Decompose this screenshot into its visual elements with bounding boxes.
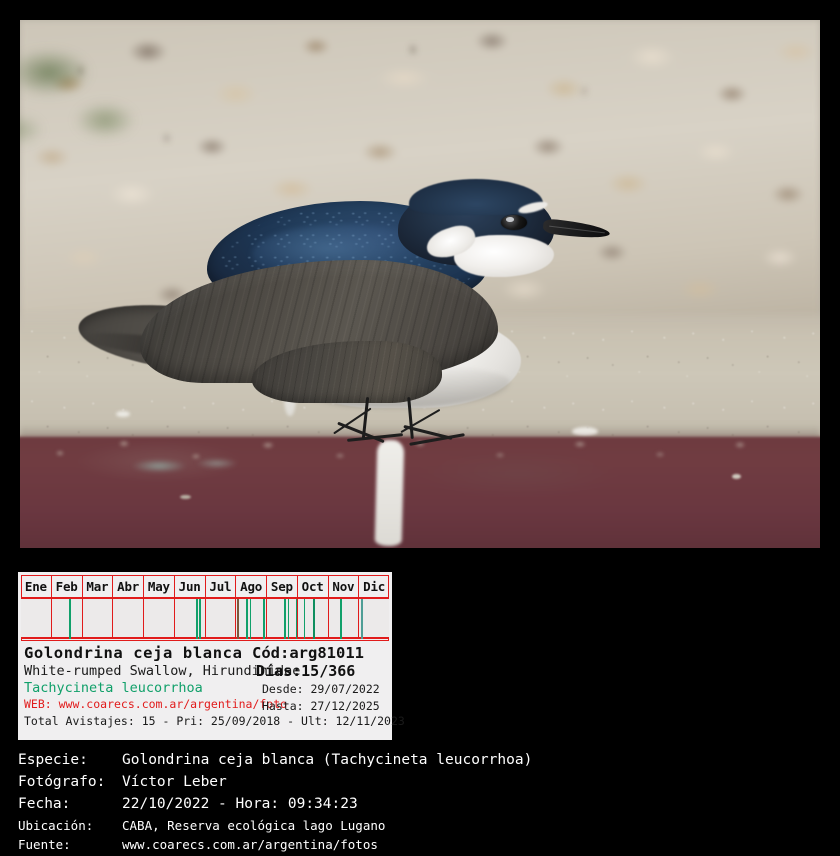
month-header-row: EneFebMarAbrMayJunJulAgoSepOctNovDic — [21, 575, 389, 597]
scientific-name-label: Tachycineta leucorrhoa — [24, 680, 203, 696]
plot-column-sep — [267, 599, 298, 639]
date-to-label: Hasta: 27/12/2025 — [262, 699, 380, 713]
footer-value[interactable]: www.coarecs.com.ar/argentina/fotos — [122, 837, 378, 852]
common-name-label: Golondrina ceja blanca — [24, 644, 243, 662]
month-header-oct: Oct — [298, 575, 329, 597]
card-text-block: Golondrina ceja blanca White-rumped Swal… — [24, 644, 386, 736]
plot-column-nov — [329, 599, 360, 639]
plot-column-feb — [52, 599, 83, 639]
month-header-may: May — [144, 575, 175, 597]
footer-value: 22/10/2022 - Hora: 09:34:23 — [122, 796, 358, 812]
paint-drip — [375, 439, 405, 545]
footer-row: Ubicación:CABA, Reserva ecológica lago L… — [18, 818, 822, 837]
month-header-nov: Nov — [329, 575, 360, 597]
month-header-feb: Feb — [52, 575, 83, 597]
sighting-tick-ago — [246, 599, 248, 639]
plot-column-ene — [21, 599, 52, 639]
sighting-tick-sep — [284, 599, 286, 639]
efflorescence-patch — [116, 453, 260, 479]
month-header-dic: Dic — [359, 575, 389, 597]
sighting-tick-dic — [361, 599, 363, 639]
total-sightings-label: Total Avistajes: 15 - Pri: 25/09/2018 - … — [24, 714, 405, 728]
footer-row: Fuente:www.coarecs.com.ar/argentina/foto… — [18, 837, 822, 856]
footer-row: Fotógrafo:Víctor Leber — [18, 774, 822, 796]
plot-column-jun — [175, 599, 206, 639]
sighting-tick-jun — [199, 599, 201, 639]
footer-row: Especie:Golondrina ceja blanca (Tachycin… — [18, 752, 822, 774]
photo-metadata-footer: Especie:Golondrina ceja blanca (Tachycin… — [18, 752, 822, 856]
footer-row: Fecha:22/10/2022 - Hora: 09:34:23 — [18, 796, 822, 818]
footer-label: Fecha: — [18, 796, 122, 812]
plot-column-mar — [83, 599, 114, 639]
date-from-label: Desde: 29/07/2022 — [262, 682, 380, 696]
sighting-tick-ago — [263, 599, 265, 639]
footer-label: Ubicación: — [18, 818, 122, 833]
sighting-tick-sep — [296, 599, 298, 639]
sighting-tick-sep — [288, 599, 290, 639]
footer-value: Golondrina ceja blanca (Tachycineta leuc… — [122, 752, 532, 768]
month-header-sep: Sep — [267, 575, 298, 597]
month-header-jun: Jun — [175, 575, 206, 597]
footer-label: Fuente: — [18, 837, 122, 852]
chart-month-columns — [21, 599, 389, 639]
plot-column-abr — [113, 599, 144, 639]
plot-column-may — [144, 599, 175, 639]
month-header-ago: Ago — [236, 575, 267, 597]
sighting-tick-feb — [69, 599, 71, 639]
sighting-tick-jun — [196, 599, 198, 639]
footer-value: Víctor Leber — [122, 774, 227, 790]
month-header-mar: Mar — [83, 575, 114, 597]
footer-label: Especie: — [18, 752, 122, 768]
sighting-tick-oct — [313, 599, 315, 639]
month-header-jul: Jul — [206, 575, 237, 597]
sighting-tick-oct — [304, 599, 306, 639]
swallow-bird — [84, 168, 644, 448]
species-code-label: Cód:arg81011 — [252, 644, 364, 662]
species-info-card: EneFebMarAbrMayJunJulAgoSepOctNovDic Gol… — [18, 572, 392, 740]
chart-plot-area — [21, 599, 389, 639]
bird-eye — [501, 215, 527, 230]
plot-column-dic — [359, 599, 389, 639]
chart-baseline — [21, 637, 389, 639]
sighting-tick-ago — [250, 599, 252, 639]
moss-patch — [20, 20, 172, 168]
footer-label: Fotógrafo: — [18, 774, 122, 790]
plot-column-jul — [206, 599, 237, 639]
bird-photo — [20, 20, 820, 548]
web-url-link[interactable]: WEB: www.coarecs.com.ar/argentina/foto — [24, 697, 287, 711]
monthly-sightings-chart: EneFebMarAbrMayJunJulAgoSepOctNovDic — [21, 575, 389, 641]
days-count-label: Días:15/366 — [256, 662, 355, 680]
footer-value: CABA, Reserva ecológica lago Lugano — [122, 818, 385, 833]
month-header-ene: Ene — [21, 575, 52, 597]
month-header-abr: Abr — [113, 575, 144, 597]
sighting-tick-ago — [237, 599, 239, 639]
sighting-tick-nov — [340, 599, 342, 639]
